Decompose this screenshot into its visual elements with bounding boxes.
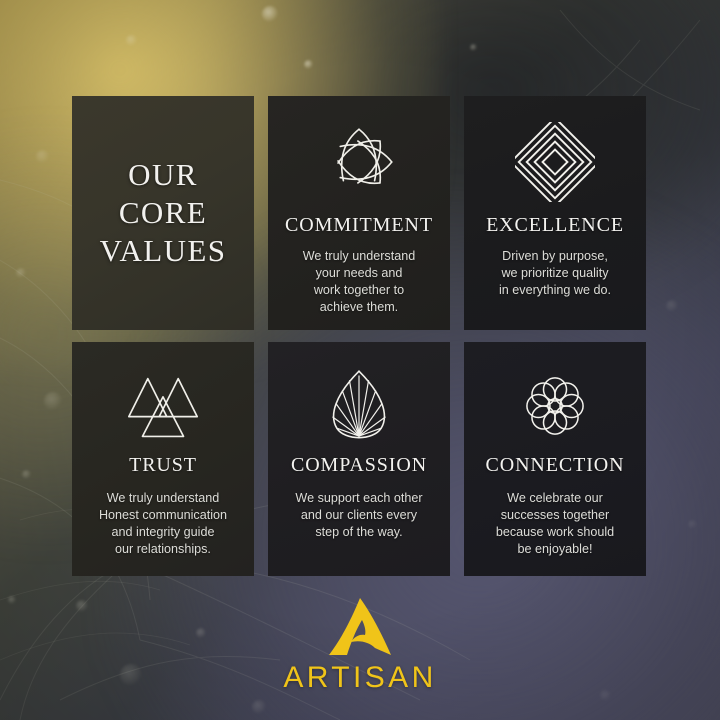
card-body: Driven by purpose, we prioritize quality… <box>499 248 611 299</box>
card-connection: CONNECTION We celebrate our successes to… <box>464 342 646 576</box>
card-body: We celebrate our successes together beca… <box>496 490 614 558</box>
brand-logo: ARTISAN <box>0 598 720 695</box>
card-our-core-values: OUR CORE VALUES <box>72 96 254 330</box>
core-values-poster: OUR CORE VALUES <box>0 0 720 720</box>
three-triangles-icon <box>125 364 201 448</box>
poster-title-line-1: OUR <box>100 156 227 194</box>
poster-title: OUR CORE VALUES <box>100 156 227 270</box>
card-heading: TRUST <box>129 454 197 476</box>
card-heading: EXCELLENCE <box>486 214 624 236</box>
values-grid: OUR CORE VALUES <box>72 96 649 576</box>
brand-wordmark: ARTISAN <box>283 661 436 695</box>
card-body: We truly understand your needs and work … <box>303 248 415 316</box>
card-heading: COMPASSION <box>291 454 427 476</box>
circle-rosette-icon <box>519 364 591 448</box>
card-compassion: COMPASSION We support each other and our… <box>268 342 450 576</box>
card-body: We truly understand Honest communication… <box>99 490 227 558</box>
mandala-arcs-icon <box>320 114 398 210</box>
card-commitment: COMMITMENT We truly understand your need… <box>268 96 450 330</box>
card-heading: CONNECTION <box>486 454 625 476</box>
radiant-leaf-icon <box>326 364 392 448</box>
nested-diamonds-icon <box>515 114 595 210</box>
artisan-a-mark-icon <box>329 598 391 656</box>
card-trust: TRUST We truly understand Honest communi… <box>72 342 254 576</box>
card-excellence: EXCELLENCE Driven by purpose, we priorit… <box>464 96 646 330</box>
card-body: We support each other and our clients ev… <box>295 490 422 541</box>
poster-title-line-3: VALUES <box>100 232 227 270</box>
poster-title-line-2: CORE <box>100 194 227 232</box>
card-heading: COMMITMENT <box>285 214 433 236</box>
